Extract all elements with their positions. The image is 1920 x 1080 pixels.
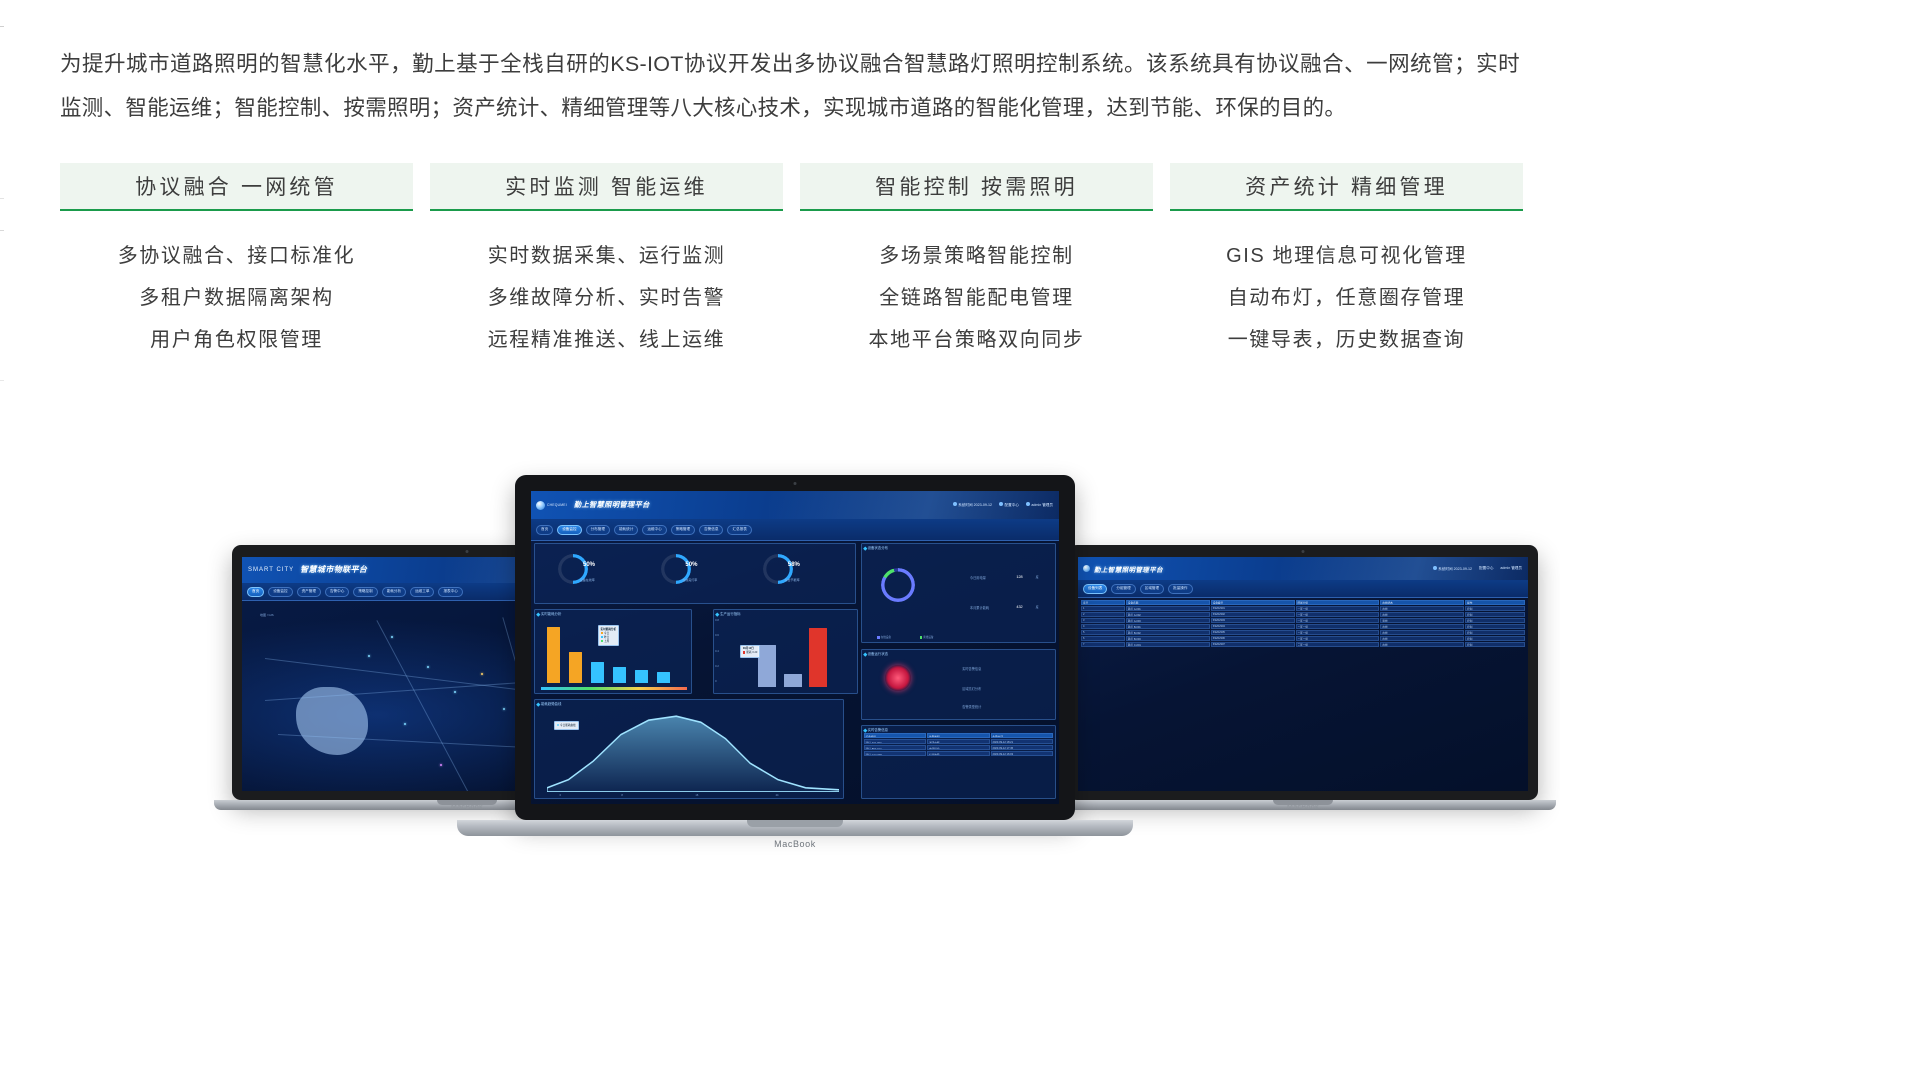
cell: 一区一组	[1296, 606, 1380, 611]
page-root: 为提升城市道路照明的智慧化水平，勤上基于全栈自研的KS-IOT协议开发出多协议融…	[0, 0, 1560, 1080]
bar	[547, 627, 560, 683]
cell: 在线	[1380, 630, 1464, 635]
laptop-center-lid: CHEQUMEI 勤上智慧照明管理平台 系统时间 2023-09-12 配置中心…	[515, 475, 1075, 820]
cell: 在线	[1380, 606, 1464, 611]
bar	[635, 670, 648, 683]
alarm-table-row[interactable]: 路灯-C12-008 灯具故障 2023-09-12 16:03	[864, 751, 1053, 756]
bar	[657, 672, 670, 682]
x-tick: 16	[695, 794, 698, 797]
center-acct-user[interactable]: admin 管理员	[1026, 502, 1053, 508]
cell: 通讯中断	[927, 739, 989, 744]
cell: 5	[1081, 630, 1125, 635]
row-action-button[interactable]: 控制	[1465, 618, 1525, 623]
cell: 在线	[1380, 642, 1464, 647]
feature-card-2: 实时监测 智能运维 实时数据采集、运行监测 多维故障分析、实时告警 远程精准推送…	[430, 163, 783, 361]
right-nav-tab-1[interactable]: 分组管理	[1111, 584, 1135, 594]
laptop-left-camera-icon	[466, 550, 469, 553]
device-status-donut	[881, 568, 915, 602]
device-table-th-1: 设备名称	[1126, 600, 1210, 605]
x-tick: 24	[776, 794, 779, 797]
alarm-table-title: 实时告警信息	[864, 727, 888, 732]
left-app-title: 智慧城市物联平台	[300, 564, 367, 575]
feature-card-3-title: 智能控制 按需照明	[875, 171, 1078, 201]
alarm-table-panel: 实时告警信息 设备编号 告警类型 告警时间 路灯-A01-003	[861, 725, 1056, 799]
laptop-left-brand-label: MacBook	[451, 804, 483, 811]
left-nav-tab-3[interactable]: 告警中心	[325, 587, 349, 597]
bar	[784, 674, 802, 686]
cell: 路灯 A-001	[1126, 606, 1210, 611]
device-status-title: 设备状态分布	[864, 545, 888, 550]
feature-card-2-header: 实时监测 智能运维	[430, 163, 783, 211]
feature-card-3-body: 多场景策略智能控制 全链路智能配电管理 本地平台策略双向同步	[800, 211, 1153, 361]
feature-card-3: 智能控制 按需照明 多场景策略智能控制 全链路智能配电管理 本地平台策略双向同步	[800, 163, 1153, 361]
laptop-center-camera-icon	[794, 482, 797, 485]
cell: 6	[1081, 636, 1125, 641]
bar	[613, 667, 626, 682]
feature-card-4-header: 资产统计 精细管理	[1170, 163, 1523, 211]
legend-swatch	[557, 724, 560, 727]
x-tick: 8	[621, 794, 622, 797]
cell: 路灯 A-003	[1126, 618, 1210, 623]
energy-bar-panel: 实时能耗分析	[534, 609, 692, 693]
cell: 1	[1081, 606, 1125, 611]
cell: KS202306	[1211, 636, 1295, 641]
cell: 在线	[1380, 612, 1464, 617]
y-tick: 0.6	[715, 634, 719, 637]
device-table-row[interactable]: 1 路灯 A-001 KS202301 一区一组 在线 控制	[1081, 606, 1525, 611]
cell: 路灯 C-001	[1126, 642, 1210, 647]
left-app-brand: SMART CITY	[248, 567, 294, 573]
cell: 在线	[1380, 624, 1464, 629]
alarm-stat-label-2: 告警类型统计	[962, 704, 981, 709]
stat-unit-1: 度	[1036, 605, 1039, 609]
legend-swatch	[743, 651, 746, 654]
feature-card-4-body: GIS 地理信息可视化管理 自动布灯，任意圈存管理 一键导表，历史数据查询	[1170, 211, 1523, 361]
bar	[591, 662, 604, 682]
production-bar-panel: 生产运行指标 0.8 0.6 0.4 0.2 0	[713, 609, 858, 693]
feature-card-2-line-1: 实时数据采集、运行监测	[430, 235, 783, 277]
feature-card-3-line-3: 本地平台策略双向同步	[800, 319, 1153, 361]
laptop-right: 勤上智慧照明管理平台 系统时间 2023-09-12 配置中心 admin 管理…	[1068, 545, 1538, 810]
row-action-button[interactable]: 控制	[1465, 606, 1525, 611]
stat-value-1: 432	[1016, 605, 1022, 609]
cell: 一区二组	[1296, 618, 1380, 623]
cell: KS202304	[1211, 624, 1295, 629]
cell: 一区一组	[1296, 612, 1380, 617]
right-nav-tab-2[interactable]: 区域管理	[1140, 584, 1164, 594]
right-nav-tab-0[interactable]: 设备列表	[1083, 584, 1107, 594]
cell: 2023-09-12 18:21	[991, 739, 1053, 744]
map-marker[interactable]	[404, 723, 406, 725]
right-acct-item-0[interactable]: 系统时间 2023-09-12	[1433, 566, 1472, 572]
left-nav-tab-0[interactable]: 首页	[247, 587, 264, 597]
legend-swatch	[601, 632, 604, 635]
map-marker[interactable]	[427, 666, 429, 668]
center-nav-tab-3[interactable]: 能耗统计	[614, 525, 638, 535]
cell: 路灯-C12-008	[864, 751, 926, 756]
center-app-topbar: CHEQUMEI 勤上智慧照明管理平台 系统时间 2023-09-12 配置中心…	[531, 491, 1059, 519]
device-status-panel: 设备状态分布 在线设备 离线设备 今日用电量 128 度 本月累计能耗 432 …	[861, 543, 1056, 643]
alarm-th-2: 告警时间	[991, 733, 1053, 738]
cell: 路灯 B-003	[1126, 636, 1210, 641]
center-app-root: CHEQUMEI 勤上智慧照明管理平台 系统时间 2023-09-12 配置中心…	[531, 491, 1059, 804]
legend-swatch	[601, 636, 604, 639]
feature-card-1-line-1: 多协议融合、接口标准化	[60, 235, 413, 277]
device-table-row[interactable]: 5 路灯 B-002 KS202305 二区一组 在线 控制	[1081, 630, 1525, 635]
kpi-gauge-2	[759, 552, 829, 594]
laptop-center-base-notch	[747, 820, 843, 827]
map-marker[interactable]	[391, 636, 393, 638]
cell: 7	[1081, 642, 1125, 647]
laptop-showcase: SMART CITY 智慧城市物联平台 首页 设备监控 资产管理 告警中心 策略…	[0, 400, 1560, 880]
device-table-row[interactable]: 3 路灯 A-003 KS202303 一区二组 离线 控制	[1081, 618, 1525, 623]
left-nav-tab-4[interactable]: 策略控制	[353, 587, 377, 597]
center-app-title: 勤上智慧照明管理平台	[574, 500, 650, 510]
map-road	[377, 621, 525, 791]
cell: 4	[1081, 624, 1125, 629]
alarm-th-0: 设备编号	[864, 733, 926, 738]
legend-swatch	[601, 640, 604, 643]
alarm-radar-panel: 设备运行状态 实时告警信息 区域亮灯分布 告警类型统计	[861, 649, 1056, 720]
left-nav-tab-6[interactable]: 运维工单	[410, 587, 434, 597]
clock-icon	[1433, 566, 1437, 570]
cell: KS202307	[1211, 642, 1295, 647]
cell: 二区二组	[1296, 636, 1380, 641]
center-nav-tab-2[interactable]: 分布管理	[586, 525, 610, 535]
device-table: 序号 设备名称 设备编号 所属分组 在线状态 操作 1 路灯 A-001	[1081, 600, 1525, 648]
map-marker[interactable]	[440, 764, 442, 766]
bar	[758, 645, 776, 687]
bar	[809, 628, 827, 687]
cell: KS202302	[1211, 612, 1295, 617]
cell: KS202305	[1211, 630, 1295, 635]
kpi-value-2: 58%	[788, 562, 800, 568]
gear-icon	[999, 502, 1003, 506]
laptop-right-brand-label: MacBook	[1287, 804, 1319, 811]
map-marker[interactable]	[481, 673, 483, 675]
laptop-center-brand-label: MacBook	[774, 839, 816, 849]
feature-card-4-title: 资产统计 精细管理	[1245, 171, 1448, 201]
left-nav-tab-7[interactable]: 报表中心	[438, 587, 462, 597]
feature-card-4: 资产统计 精细管理 GIS 地理信息可视化管理 自动布灯，任意圈存管理 一键导表…	[1170, 163, 1523, 361]
clock-icon	[953, 502, 957, 506]
alarm-table: 设备编号 告警类型 告警时间 路灯-A01-003 通讯中断 2023-09-1…	[864, 733, 1053, 757]
device-table-row[interactable]: 7 路灯 C-001 KS202307 三区一组 在线 控制	[1081, 642, 1525, 647]
cell: 在线	[1380, 636, 1464, 641]
y-tick: 0	[715, 680, 716, 683]
energy-bar-colorbar	[541, 687, 687, 690]
map-marker[interactable]	[503, 708, 505, 710]
production-bar-title: 生产运行指标	[716, 611, 740, 616]
feature-card-2-line-3: 远程精准推送、线上运维	[430, 319, 783, 361]
feature-card-2-title: 实时监测 智能运维	[505, 171, 708, 201]
alarm-radar-indicator	[885, 665, 911, 691]
energy-trend-title: 能耗趋势曲线	[537, 701, 561, 706]
row-action-button[interactable]: 控制	[1465, 630, 1525, 635]
cell: 2023-09-12 17:45	[991, 745, 1053, 750]
laptop-center-screen: CHEQUMEI 勤上智慧照明管理平台 系统时间 2023-09-12 配置中心…	[531, 491, 1059, 804]
intro-paragraph: 为提升城市道路照明的智慧化水平，勤上基于全栈自研的KS-IOT协议开发出多协议融…	[60, 42, 1520, 130]
y-tick: 0.2	[715, 665, 719, 668]
tooltip-legend-2: 上周	[601, 640, 617, 644]
map-layer-label: 地图 / GIS	[260, 613, 274, 617]
cell: 2	[1081, 612, 1125, 617]
feature-card-3-line-2: 全链路智能配电管理	[800, 277, 1153, 319]
kpi-gauge-0	[554, 552, 624, 594]
cell: 电流异常	[927, 745, 989, 750]
alarm-radar-title: 设备运行状态	[864, 651, 888, 656]
row-action-button[interactable]: 控制	[1465, 624, 1525, 629]
device-table-row[interactable]: 2 路灯 A-002 KS202302 一区一组 在线 控制	[1081, 612, 1525, 617]
cell: 灯具故障	[927, 751, 989, 756]
cell: 路灯-B07-012	[864, 745, 926, 750]
feature-card-4-line-1: GIS 地理信息可视化管理	[1170, 235, 1523, 277]
right-acct-item-2[interactable]: admin 管理员	[1500, 566, 1522, 571]
feature-card-grid: 协议融合 一网统管 多协议融合、接口标准化 多租户数据隔离架构 用户角色权限管理…	[60, 163, 1528, 361]
row-action-button[interactable]: 控制	[1465, 612, 1525, 617]
device-table-header-row: 序号 设备名称 设备编号 所属分组 在线状态 操作	[1081, 600, 1525, 605]
right-acct-item-1[interactable]: 配置中心	[1479, 566, 1493, 571]
device-table-th-0: 序号	[1081, 600, 1125, 605]
map-marker[interactable]	[454, 691, 456, 693]
alarm-table-row[interactable]: 路灯-B07-012 电流异常 2023-09-12 17:45	[864, 745, 1053, 750]
laptop-center-base	[457, 820, 1133, 836]
stat-label-1: 本月累计能耗	[970, 605, 989, 610]
center-acct-time[interactable]: 系统时间 2023-09-12	[953, 502, 992, 508]
kpi-label-2: 综合节能率	[785, 578, 800, 582]
center-app-logo-icon	[536, 501, 545, 510]
row-action-button[interactable]: 控制	[1465, 642, 1525, 647]
alarm-stat-label-0: 实时告警信息	[962, 666, 981, 671]
tooltip-row-0: 能耗 0.23	[743, 651, 757, 655]
left-nav-tab-1[interactable]: 设备监控	[268, 587, 292, 597]
kpi-label-1: 当前亮灯率	[682, 578, 697, 582]
y-tick: 0.4	[715, 650, 719, 653]
center-app-body: 50% 设备在线率 50% 当前亮灯率 58%	[531, 541, 1059, 804]
device-table-row[interactable]: 4 路灯 B-001 KS202304 二区一组 在线 控制	[1081, 624, 1525, 629]
center-nav-tab-7[interactable]: 汇总报表	[727, 525, 751, 535]
feature-card-1-title: 协议融合 一网统管	[135, 171, 338, 201]
device-table-row[interactable]: 6 路灯 B-003 KS202306 二区二组 在线 控制	[1081, 636, 1525, 641]
alarm-table-header-row: 设备编号 告警类型 告警时间	[864, 733, 1053, 738]
center-app-nav: 首页 设备监控 分布管理 能耗统计 运维中心 策略管理 告警信息 汇总报表	[531, 519, 1059, 541]
kpi-value-0: 50%	[583, 562, 595, 568]
cell: 路灯 B-001	[1126, 624, 1210, 629]
cell: 三区一组	[1296, 642, 1380, 647]
cell: KS202303	[1211, 618, 1295, 623]
laptop-right-camera-icon	[1302, 550, 1305, 553]
feature-card-1-header: 协议融合 一网统管	[60, 163, 413, 211]
alarm-th-1: 告警类型	[927, 733, 989, 738]
center-nav-tab-6[interactable]: 告警信息	[699, 525, 723, 535]
right-app-title: 勤上智慧照明管理平台	[1094, 564, 1163, 574]
kpi-label-0: 设备在线率	[580, 578, 595, 582]
trend-legend-label: 今日能耗曲线	[557, 724, 576, 728]
cell: 二区一组	[1296, 630, 1380, 635]
right-app-root: 勤上智慧照明管理平台 系统时间 2023-09-12 配置中心 admin 管理…	[1078, 557, 1528, 791]
left-nav-tab-5[interactable]: 能耗分析	[382, 587, 406, 597]
cell: 路灯-A01-003	[864, 739, 926, 744]
cell: 3	[1081, 618, 1125, 623]
laptop-right-lid: 勤上智慧照明管理平台 系统时间 2023-09-12 配置中心 admin 管理…	[1068, 545, 1538, 800]
kpi-gauge-panel: 50% 设备在线率 50% 当前亮灯率 58%	[534, 543, 856, 603]
kpi-gauge-1	[657, 552, 727, 594]
center-acct-config[interactable]: 配置中心	[999, 502, 1019, 508]
stat-unit-0: 度	[1036, 575, 1039, 579]
feature-card-3-line-1: 多场景策略智能控制	[800, 235, 1153, 277]
energy-bar-title: 实时能耗分析	[537, 611, 561, 616]
center-app-account-area: 系统时间 2023-09-12 配置中心 admin 管理员	[953, 502, 1053, 508]
right-app-logo-icon	[1083, 565, 1090, 572]
left-nav-tab-2[interactable]: 资产管理	[297, 587, 321, 597]
device-table-th-4: 在线状态	[1380, 600, 1464, 605]
feature-card-4-line-2: 自动布灯，任意圈存管理	[1170, 277, 1523, 319]
alarm-stat-label-1: 区域亮灯分布	[962, 686, 981, 691]
center-nav-tab-4[interactable]: 运维中心	[642, 525, 666, 535]
right-app-body: 序号 设备名称 设备编号 所属分组 在线状态 操作 1 路灯 A-001	[1078, 598, 1528, 791]
feature-card-1: 协议融合 一网统管 多协议融合、接口标准化 多租户数据隔离架构 用户角色权限管理	[60, 163, 413, 361]
bar	[569, 652, 582, 682]
donut-legend-online: 在线设备	[877, 635, 891, 639]
y-tick: 0.8	[715, 619, 719, 622]
feature-card-2-body: 实时数据采集、运行监测 多维故障分析、实时告警 远程精准推送、线上运维	[430, 211, 783, 361]
feature-card-1-body: 多协议融合、接口标准化 多租户数据隔离架构 用户角色权限管理	[60, 211, 413, 361]
cell: KS202301	[1211, 606, 1295, 611]
stat-label-0: 今日用电量	[970, 575, 986, 580]
donut-legend-offline: 离线设备	[920, 635, 934, 639]
row-action-button[interactable]: 控制	[1465, 636, 1525, 641]
cell: 2023-09-12 16:03	[991, 751, 1053, 756]
device-table-th-2: 设备编号	[1211, 600, 1295, 605]
center-nav-tab-5[interactable]: 策略管理	[671, 525, 695, 535]
feature-card-2-line-2: 多维故障分析、实时告警	[430, 277, 783, 319]
device-table-th-3: 所属分组	[1296, 600, 1380, 605]
cell: 路灯 B-002	[1126, 630, 1210, 635]
center-nav-tab-1[interactable]: 设备监控	[557, 525, 581, 535]
map-marker[interactable]	[368, 655, 370, 657]
energy-bar-tooltip: 实时能耗分析 今日 昨日 上周	[598, 625, 620, 646]
energy-trend-panel: 能耗趋势曲线	[534, 699, 844, 799]
right-app-nav: 设备列表 分组管理 区域管理 批量操作	[1078, 580, 1528, 598]
center-app-logo-text: CHEQUMEI	[547, 503, 567, 507]
cell: 二区一组	[1296, 624, 1380, 629]
x-tick: 0	[560, 794, 561, 797]
energy-trend-legend: 今日能耗曲线	[554, 721, 579, 730]
feature-card-1-line-2: 多租户数据隔离架构	[60, 277, 413, 319]
right-nav-tab-3[interactable]: 批量操作	[1168, 584, 1192, 594]
laptop-center: CHEQUMEI 勤上智慧照明管理平台 系统时间 2023-09-12 配置中心…	[515, 475, 1075, 835]
center-nav-tab-0[interactable]: 首页	[536, 525, 553, 535]
feature-card-3-header: 智能控制 按需照明	[800, 163, 1153, 211]
feature-card-4-line-3: 一键导表，历史数据查询	[1170, 319, 1523, 361]
legend-swatch-offline	[920, 636, 923, 639]
cell: 路灯 A-002	[1126, 612, 1210, 617]
device-table-th-5: 操作	[1465, 600, 1525, 605]
stat-value-0: 128	[1016, 575, 1022, 579]
production-bar-tooltip: 09月12日 能耗 0.23	[740, 645, 760, 658]
user-icon	[1026, 502, 1030, 506]
legend-swatch-online	[877, 636, 880, 639]
alarm-table-row[interactable]: 路灯-A01-003 通讯中断 2023-09-12 18:21	[864, 739, 1053, 744]
kpi-value-1: 50%	[685, 562, 697, 568]
energy-trend-chart	[547, 710, 839, 792]
feature-card-1-line-3: 用户角色权限管理	[60, 319, 413, 361]
right-app-topbar: 勤上智慧照明管理平台 系统时间 2023-09-12 配置中心 admin 管理…	[1078, 557, 1528, 580]
laptop-right-screen: 勤上智慧照明管理平台 系统时间 2023-09-12 配置中心 admin 管理…	[1078, 557, 1528, 791]
cell: 离线	[1380, 618, 1464, 623]
right-app-account-area: 系统时间 2023-09-12 配置中心 admin 管理员	[1433, 566, 1522, 572]
